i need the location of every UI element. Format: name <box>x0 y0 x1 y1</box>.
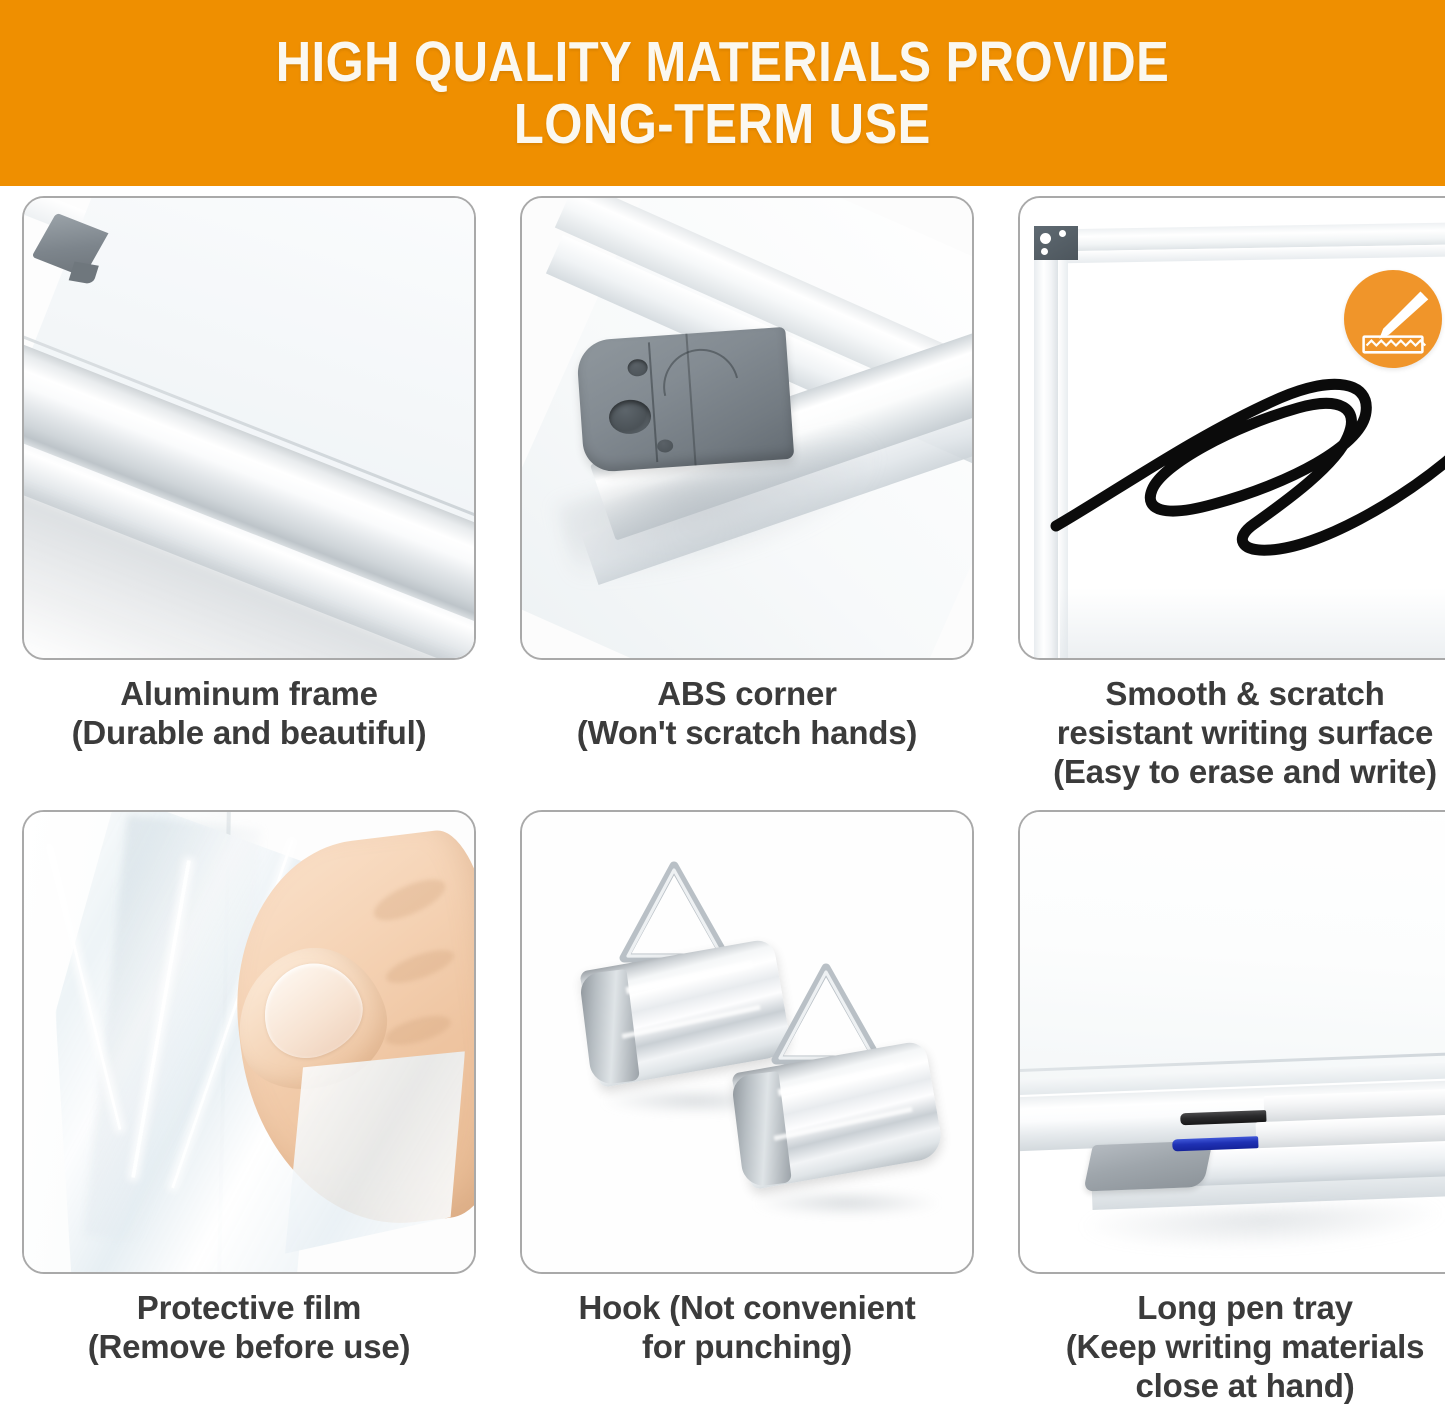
feature-cell-hooks: Hook (Not convenient for punching) <box>498 800 996 1414</box>
smooth-surface-badge <box>1344 270 1442 368</box>
feature-image-writing-surface <box>1018 196 1445 660</box>
feature-cell-writing-surface: Smooth & scratch resistant writing surfa… <box>996 186 1445 800</box>
caption-line: (Won't scratch hands) <box>520 713 974 752</box>
feature-image-abs-corner <box>520 196 974 660</box>
abs-corner-bracket <box>576 327 795 473</box>
feature-cell-aluminum-frame: Aluminum frame (Durable and beautiful) <box>0 186 498 800</box>
feature-caption-hooks: Hook (Not convenient for punching) <box>520 1288 974 1366</box>
marker-scribble <box>1048 338 1445 628</box>
header-title-line-1: HIGH QUALITY MATERIALS PROVIDE <box>276 31 1169 93</box>
feature-caption-pen-tray: Long pen tray (Keep writing materials cl… <box>1018 1288 1445 1405</box>
header-banner: HIGH QUALITY MATERIALS PROVIDE LONG-TERM… <box>0 0 1445 186</box>
pen-on-smooth-surface-icon <box>1344 270 1442 368</box>
feature-image-pen-tray <box>1018 810 1445 1274</box>
caption-line: (Keep writing materials <box>1018 1327 1445 1366</box>
feature-cell-pen-tray: Long pen tray (Keep writing materials cl… <box>996 800 1445 1414</box>
caption-line: Protective film <box>22 1288 476 1327</box>
caption-line: (Easy to erase and write) <box>1018 752 1445 791</box>
caption-line: Long pen tray <box>1018 1288 1445 1327</box>
feature-image-aluminum-frame <box>22 196 476 660</box>
screw-hole-icon <box>657 439 674 453</box>
feature-cell-abs-corner: ABS corner (Won't scratch hands) <box>498 186 996 800</box>
feature-image-protective-film <box>22 810 476 1274</box>
caption-line: ABS corner <box>520 674 974 713</box>
caption-line: for punching) <box>520 1327 974 1366</box>
feature-caption-writing-surface: Smooth & scratch resistant writing surfa… <box>1018 674 1445 791</box>
feature-caption-aluminum-frame: Aluminum frame (Durable and beautiful) <box>22 674 476 752</box>
caption-line: Aluminum frame <box>22 674 476 713</box>
caption-line: Hook (Not convenient <box>520 1288 974 1327</box>
screw-hole-icon <box>608 398 652 435</box>
corner-bracket-icon <box>1034 226 1078 260</box>
caption-line: close at hand) <box>1018 1366 1445 1405</box>
hanging-hook <box>732 960 962 1210</box>
feature-caption-abs-corner: ABS corner (Won't scratch hands) <box>520 674 974 752</box>
product-feature-infographic: HIGH QUALITY MATERIALS PROVIDE LONG-TERM… <box>0 0 1445 1414</box>
caption-line: Smooth & scratch <box>1018 674 1445 713</box>
caption-line: (Durable and beautiful) <box>22 713 476 752</box>
feature-grid: Aluminum frame (Durable and beautiful) <box>0 186 1445 1414</box>
feature-cell-protective-film: Protective film (Remove before use) <box>0 800 498 1414</box>
caption-line: resistant writing surface <box>1018 713 1445 752</box>
caption-line: (Remove before use) <box>22 1327 476 1366</box>
feature-image-hooks <box>520 810 974 1274</box>
header-title-line-2: LONG-TERM USE <box>514 93 931 155</box>
feature-caption-protective-film: Protective film (Remove before use) <box>22 1288 476 1366</box>
screw-hole-icon <box>627 359 648 377</box>
